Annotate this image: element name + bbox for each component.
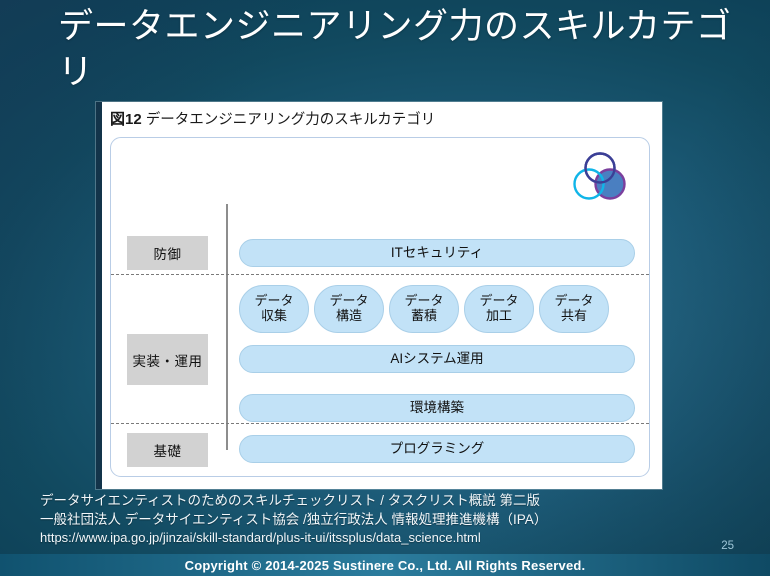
- slide-canvas: データエンジニアリング力のスキルカテゴリ 図12 データエンジニアリング力のスキ…: [0, 0, 770, 576]
- skill-bar-ai-system-operation: AIシステム運用: [239, 345, 635, 373]
- source-line-1: データサイエンティストのためのスキルチェックリスト / タスクリスト概説 第二版: [40, 491, 547, 510]
- pill-line-1: データ: [254, 294, 293, 309]
- pill-line-1: データ: [554, 294, 593, 309]
- figure-number: 図12: [110, 111, 142, 128]
- source-line-2: 一般社団法人 データサイエンティスト協会 /独立行政法人 情報処理推進機構（IP…: [40, 510, 547, 529]
- pill-line-1: データ: [404, 294, 443, 309]
- figure-panel: 図12 データエンジニアリング力のスキルカテゴリ 防御 実装・運用 基礎 ITセ…: [96, 102, 662, 489]
- skill-bar-it-security: ITセキュリティ: [239, 239, 635, 267]
- category-label-defense: 防御: [127, 236, 208, 270]
- skill-pill-data-storage: データ 蓄積: [389, 285, 459, 333]
- pill-line-2: 収集: [261, 309, 287, 324]
- skill-pill-data-collection: データ 収集: [239, 285, 309, 333]
- pill-line-2: 蓄積: [411, 309, 437, 324]
- pill-line-1: データ: [329, 294, 368, 309]
- pill-line-1: データ: [479, 294, 518, 309]
- figure-left-accent-band: [96, 102, 102, 489]
- skill-bar-programming: プログラミング: [239, 435, 635, 463]
- figure-inner-card: 防御 実装・運用 基礎 ITセキュリティ AIシステム運用 環境構築 プログラミ…: [110, 137, 650, 477]
- venn-logo-icon: [567, 150, 633, 206]
- diagram-dashed-divider-2: [111, 423, 649, 424]
- pill-line-2: 構造: [336, 309, 362, 324]
- pill-line-2: 加工: [486, 309, 512, 324]
- figure-caption: 図12 データエンジニアリング力のスキルカテゴリ: [110, 108, 652, 129]
- page-title: データエンジニアリング力のスキルカテゴリ: [58, 4, 738, 95]
- skill-pill-data-structure: データ 構造: [314, 285, 384, 333]
- category-label-foundation: 基礎: [127, 433, 208, 467]
- pill-line-2: 共有: [561, 309, 587, 324]
- skill-pill-data-processing: データ 加工: [464, 285, 534, 333]
- category-label-implementation-operation: 実装・運用: [127, 334, 208, 385]
- diagram-vertical-divider: [226, 204, 228, 450]
- diagram-dashed-divider-1: [111, 274, 649, 275]
- skill-pill-data-sharing: データ 共有: [539, 285, 609, 333]
- copyright-bar: Copyright © 2014-2025 Sustinere Co., Ltd…: [0, 554, 770, 576]
- skill-bar-environment-construction: 環境構築: [239, 394, 635, 422]
- figure-caption-text: データエンジニアリング力のスキルカテゴリ: [146, 112, 436, 128]
- page-number: 25: [0, 540, 734, 552]
